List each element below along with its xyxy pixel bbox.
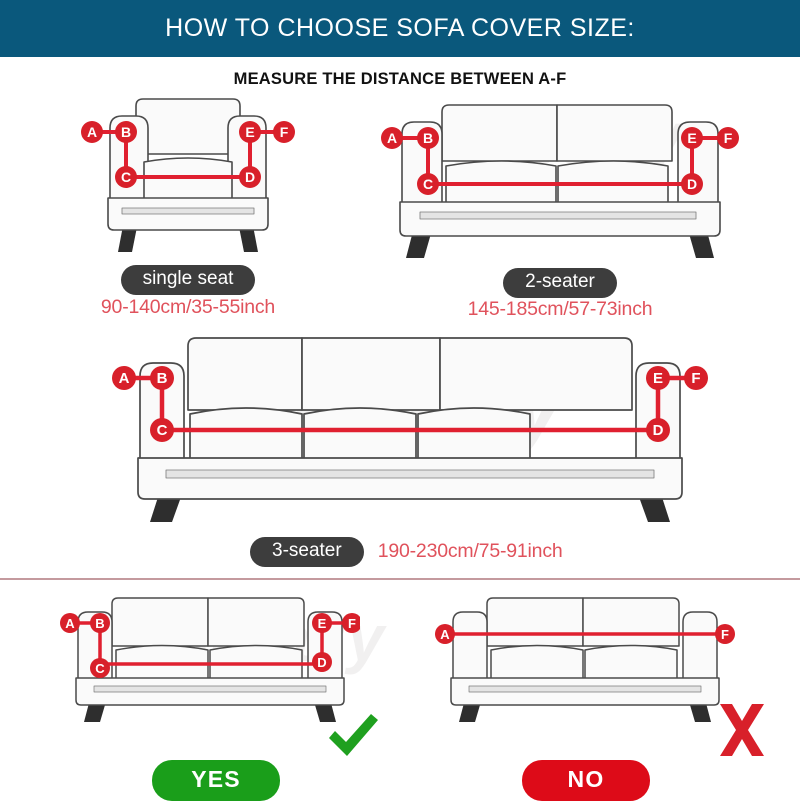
svg-text:B: B [157, 370, 168, 387]
svg-text:A: A [387, 130, 397, 146]
svg-text:D: D [317, 655, 326, 670]
svg-text:B: B [121, 124, 131, 140]
svg-text:C: C [95, 661, 105, 676]
svg-text:A: A [87, 124, 97, 140]
svg-text:D: D [245, 169, 255, 185]
svg-text:B: B [95, 616, 104, 631]
two-seater-measure-overlay: A B C D E F [380, 100, 740, 270]
svg-text:F: F [348, 616, 356, 631]
sofa-diagram-three-seater: A B C D E F [110, 332, 710, 532]
sofa-label-three-seater: 3-seater [250, 537, 364, 567]
sofa-label-two-seater: 2-seater [503, 268, 617, 298]
svg-text:F: F [280, 124, 289, 140]
svg-text:F: F [724, 130, 733, 146]
incorrect-measure-overlay: A F [435, 592, 735, 732]
svg-text:F: F [691, 370, 700, 387]
svg-text:A: A [119, 370, 130, 387]
svg-text:E: E [653, 370, 663, 387]
sofa-diagram-incorrect: A F [435, 592, 735, 732]
svg-text:A: A [65, 616, 75, 631]
svg-text:E: E [245, 124, 254, 140]
correct-measure-overlay: A B C D E F [60, 592, 360, 732]
section-divider [0, 578, 800, 580]
marker-group: A B C D E F [60, 613, 360, 678]
svg-text:D: D [653, 422, 664, 439]
svg-text:D: D [687, 176, 697, 192]
svg-text:E: E [687, 130, 696, 146]
svg-text:A: A [440, 627, 450, 642]
svg-text:B: B [423, 130, 433, 146]
single-seat-measure-overlay: A B C D E F [78, 92, 298, 267]
svg-text:C: C [121, 169, 131, 185]
sofa-diagram-correct: A B C D E F [60, 592, 360, 732]
sofa-label-single-seat: single seat [121, 265, 256, 295]
three-seater-measure-overlay: A B C D E F [110, 332, 710, 532]
check-mark-icon [325, 712, 381, 762]
sofa-measurement-three-seater: 190-230cm/75-91inch [378, 540, 563, 563]
sofa-measurement-single-seat: 90-140cm/35-55inch [101, 296, 275, 318]
sofa-measurement-two-seater: 145-185cm/57-73inch [468, 298, 653, 320]
x-mark-icon [714, 702, 770, 758]
svg-text:E: E [318, 616, 327, 631]
svg-text:C: C [157, 422, 168, 439]
verdict-no-badge: NO [522, 760, 650, 801]
verdict-yes-badge: YES [152, 760, 280, 801]
svg-text:F: F [721, 627, 729, 642]
svg-text:C: C [423, 176, 433, 192]
sofa-diagram-single-seat: A B C D E F [78, 92, 298, 267]
sofa-diagram-two-seater: A B C D E F [380, 100, 740, 270]
